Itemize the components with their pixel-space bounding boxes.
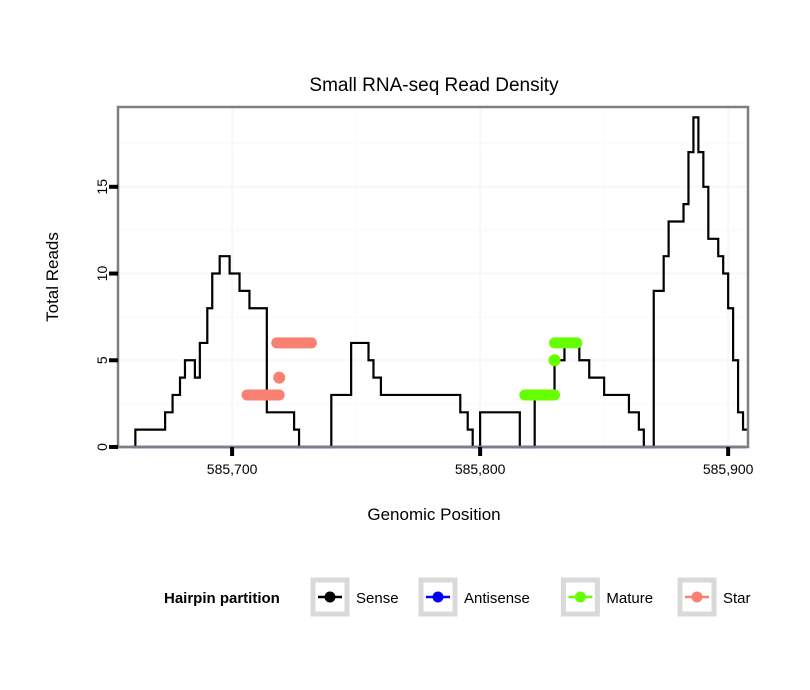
legend-item-antisense[interactable]: Antisense	[421, 580, 530, 614]
legend-item-mature[interactable]: Mature	[563, 580, 653, 614]
rnaseq-density-plot: Small RNA-seq Read Density Total Reads G…	[0, 0, 810, 690]
page-title: Small RNA-seq Read Density	[309, 75, 559, 96]
legend-key-point-antisense	[433, 592, 444, 603]
annotation-point-mature	[549, 354, 561, 366]
legend-item-star[interactable]: Star	[680, 580, 751, 614]
y-axis-tick-label: 5	[94, 356, 110, 364]
legend-item-sense[interactable]: Sense	[313, 580, 399, 614]
x-axis-tick-label: 585,800	[455, 461, 506, 477]
legend-key-point-star	[692, 592, 703, 603]
x-axis-title: Genomic Position	[367, 505, 500, 524]
legend-label-antisense: Antisense	[464, 590, 530, 607]
y-axis: 051015	[94, 179, 118, 451]
x-axis-tick-label: 585,900	[703, 461, 754, 477]
legend[interactable]: Hairpin partition SenseAntisenseMatureSt…	[164, 580, 751, 614]
legend-key-point-mature	[575, 592, 586, 603]
y-axis-tick-label: 10	[94, 266, 110, 282]
y-axis-title: Total Reads	[43, 232, 62, 322]
y-axis-tick-label: 0	[94, 443, 110, 451]
legend-key-point-sense	[325, 592, 336, 603]
legend-label-sense: Sense	[356, 590, 399, 607]
legend-label-mature: Mature	[606, 590, 653, 607]
chart-root: Small RNA-seq Read Density Total Reads G…	[0, 0, 810, 690]
x-axis: 585,700585,800585,900	[207, 447, 754, 477]
x-axis-tick-label: 585,700	[207, 461, 258, 477]
legend-label-star: Star	[723, 590, 751, 607]
annotation-point-star	[273, 372, 285, 384]
legend-title: Hairpin partition	[164, 590, 280, 607]
y-axis-tick-label: 15	[94, 179, 110, 195]
